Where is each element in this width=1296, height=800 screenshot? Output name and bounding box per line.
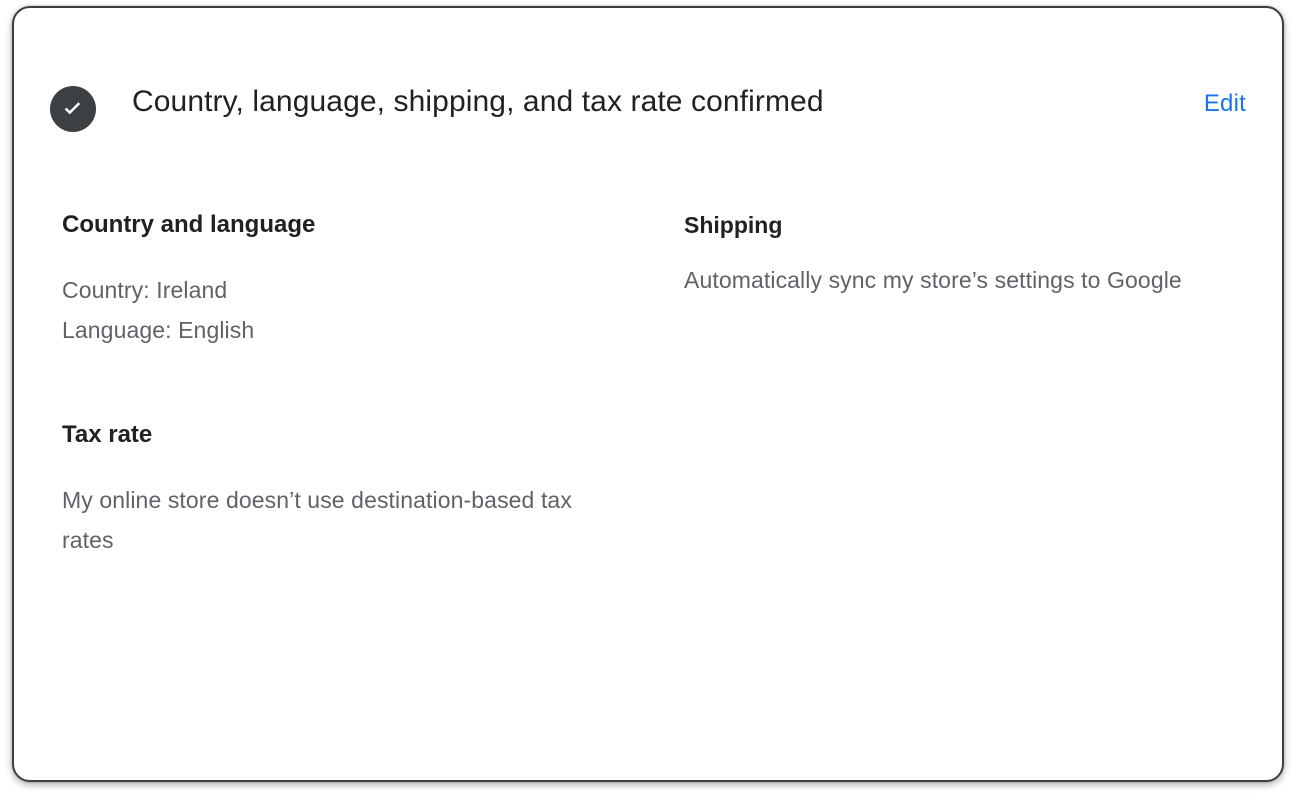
country-value: Country: Ireland <box>62 277 227 303</box>
confirmation-card: Country, language, shipping, and tax rat… <box>12 6 1284 782</box>
country-language-heading: Country and language <box>62 210 315 240</box>
shipping-value: Automatically sync my store’s settings t… <box>684 260 1224 301</box>
card-content: Country, language, shipping, and tax rat… <box>14 8 1282 780</box>
tax-rate-value: My online store doesn’t use destination-… <box>62 480 592 560</box>
tax-rate-heading: Tax rate <box>62 420 152 450</box>
page-title: Country, language, shipping, and tax rat… <box>132 80 1184 124</box>
language-value: Language: English <box>62 317 254 343</box>
country-language-values: Country: Ireland Language: English <box>62 270 622 350</box>
card-header: Country, language, shipping, and tax rat… <box>50 80 1246 144</box>
check-circle-icon <box>50 86 96 132</box>
shipping-heading: Shipping <box>684 210 782 240</box>
screenshot-root: Country, language, shipping, and tax rat… <box>0 0 1296 800</box>
edit-button[interactable]: Edit <box>1204 82 1246 126</box>
